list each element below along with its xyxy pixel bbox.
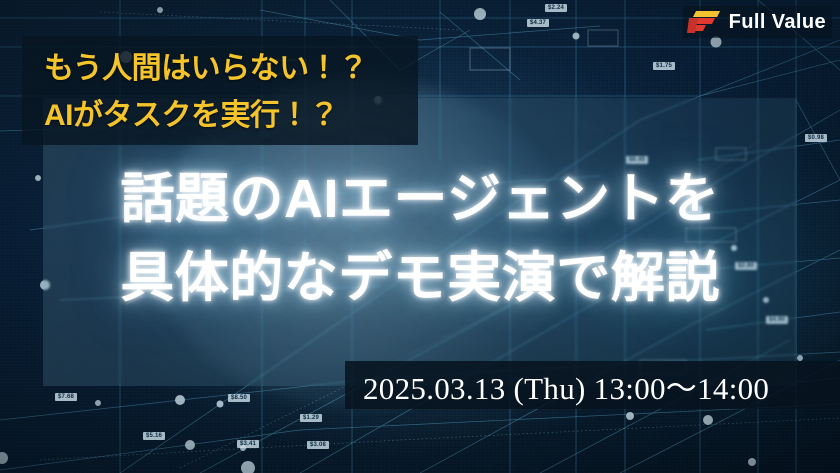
brand-logo-text: Full Value <box>729 11 826 34</box>
catchphrase-box: もう人間はいらない！？ AIがタスクを実行！？ <box>22 36 418 145</box>
catchphrase-line-1: もう人間はいらない！？ <box>44 45 418 92</box>
page-title-line-2: 具体的なデモ実演で解説 <box>0 239 840 318</box>
catchphrase-line-2: AIがタスクを実行！？ <box>44 92 418 139</box>
background-value-tag: $0.98 <box>805 134 827 142</box>
background-value-tag: $1.29 <box>300 414 322 422</box>
background-value-tag: $8.50 <box>228 394 250 402</box>
page-title-line-1: 話題のAIエージェントを <box>0 160 840 239</box>
full-value-f-mark-icon <box>687 10 721 34</box>
page-title: 話題のAIエージェントを 具体的なデモ実演で解説 <box>0 160 840 318</box>
background-value-tag: $7.68 <box>55 393 77 401</box>
background-value-tag: $3.41 <box>237 440 259 448</box>
background-value-tag: $3.08 <box>307 441 329 449</box>
brand-logo[interactable]: Full Value <box>683 6 832 38</box>
schedule-bar: 2025.03.13 (Thu) 13:00〜14:00 <box>345 361 840 409</box>
background-value-tag: $1.75 <box>653 62 675 70</box>
background-value-tag: $2.24 <box>545 4 567 12</box>
background-value-tag: $4.37 <box>527 19 549 27</box>
background-value-tag: $5.16 <box>143 432 165 440</box>
schedule-date-time: 2025.03.13 (Thu) 13:00〜14:00 <box>363 363 769 408</box>
webinar-banner: $2.24$4.37$8.50$1.29$7.68$5.16$3.08$6.45… <box>0 0 840 473</box>
